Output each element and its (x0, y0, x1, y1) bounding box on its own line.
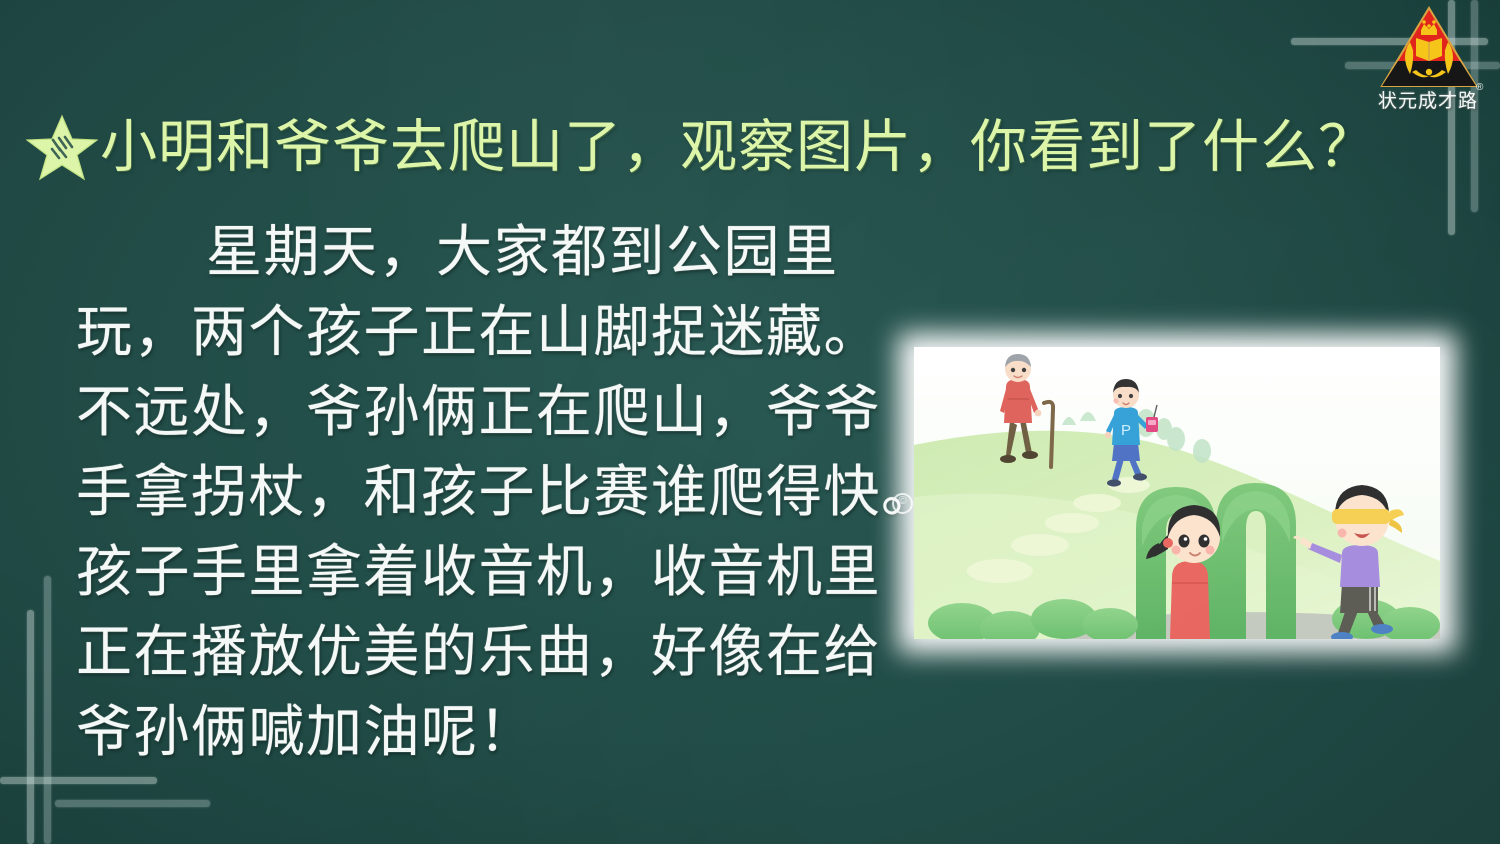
passage-line: 不远处，爷孙俩正在爬山，爷爷 (76, 372, 956, 452)
chalk-line-bottom-left-v1 (27, 610, 34, 844)
illustration-frame: P (898, 333, 1456, 653)
registered-mark: ® (1476, 82, 1483, 93)
passage-text: 星期天，大家都到公园里 玩，两个孩子正在山脚捉迷藏。 不远处，爷孙俩正在爬山，爷… (76, 212, 956, 772)
chalk-line-bottom-left-v2 (44, 576, 51, 844)
logo-text: 状元成才路 (1372, 86, 1484, 113)
passage-line: 孩子手里拿着收音机，收音机里 (76, 532, 956, 612)
passage-line: 玩，两个孩子正在山脚捉迷藏。 (76, 292, 956, 372)
page-title: 小明和爷爷去爬山了，观察图片，你看到了什么？ (100, 110, 1340, 184)
illustration-image: P (914, 347, 1440, 639)
passage-line: 正在播放优美的乐曲，好像在给 (76, 612, 956, 692)
slide-canvas: 小明和爷爷去爬山了，观察图片，你看到了什么？ 星期天，大家都到公园里 玩，两个孩… (0, 0, 1500, 844)
radio-letter-p: P (1121, 422, 1131, 439)
passage-line: 星期天，大家都到公园里 (76, 212, 956, 292)
passage-line: 爷孙俩喊加油呢！ (76, 692, 956, 772)
passage-line: 手拿拐杖，和孩子比赛谁爬得快。 (76, 452, 956, 532)
chalk-line-bottom-left-h1 (0, 777, 157, 784)
logo-triangle-icon (1380, 6, 1478, 88)
star-icon (26, 112, 98, 182)
chalk-line-bottom-left-h2 (55, 800, 210, 807)
brand-logo: 状元成才路 ® (1372, 6, 1488, 124)
